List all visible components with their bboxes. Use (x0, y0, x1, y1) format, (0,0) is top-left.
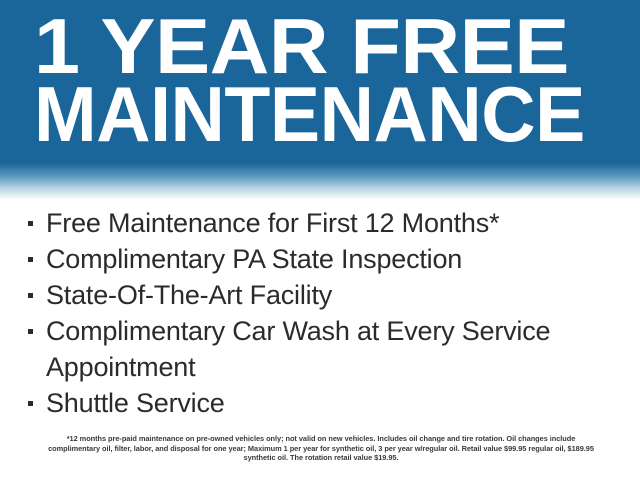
list-item-label: Complimentary Car Wash at Every Service … (46, 313, 628, 385)
bullet-square-icon (28, 257, 33, 262)
list-item: Complimentary Car Wash at Every Service … (28, 313, 628, 385)
list-item: Complimentary PA State Inspection (28, 241, 628, 277)
list-item-label: Shuttle Service (46, 385, 628, 421)
benefits-list: Free Maintenance for First 12 Months* Co… (28, 205, 628, 421)
bullet-square-icon (28, 329, 33, 334)
headline-line-2: MAINTENANCE (34, 82, 594, 148)
headline-block: 1 YEAR FREE MAINTENANCE (34, 14, 614, 147)
list-item: Free Maintenance for First 12 Months* (28, 205, 628, 241)
bullet-square-icon (28, 221, 33, 226)
list-item: State-Of-The-Art Facility (28, 277, 628, 313)
header-banner: 1 YEAR FREE MAINTENANCE (0, 0, 640, 200)
disclaimer-text: *12 months pre-paid maintenance on pre-o… (40, 434, 602, 463)
list-item: Shuttle Service (28, 385, 628, 421)
list-item-label: Free Maintenance for First 12 Months* (46, 205, 628, 241)
bullet-square-icon (28, 293, 33, 298)
list-item-label: Complimentary PA State Inspection (46, 241, 628, 277)
promotional-ad: 1 YEAR FREE MAINTENANCE Free Maintenance… (0, 0, 640, 480)
list-item-label: State-Of-The-Art Facility (46, 277, 628, 313)
bullet-square-icon (28, 401, 33, 406)
